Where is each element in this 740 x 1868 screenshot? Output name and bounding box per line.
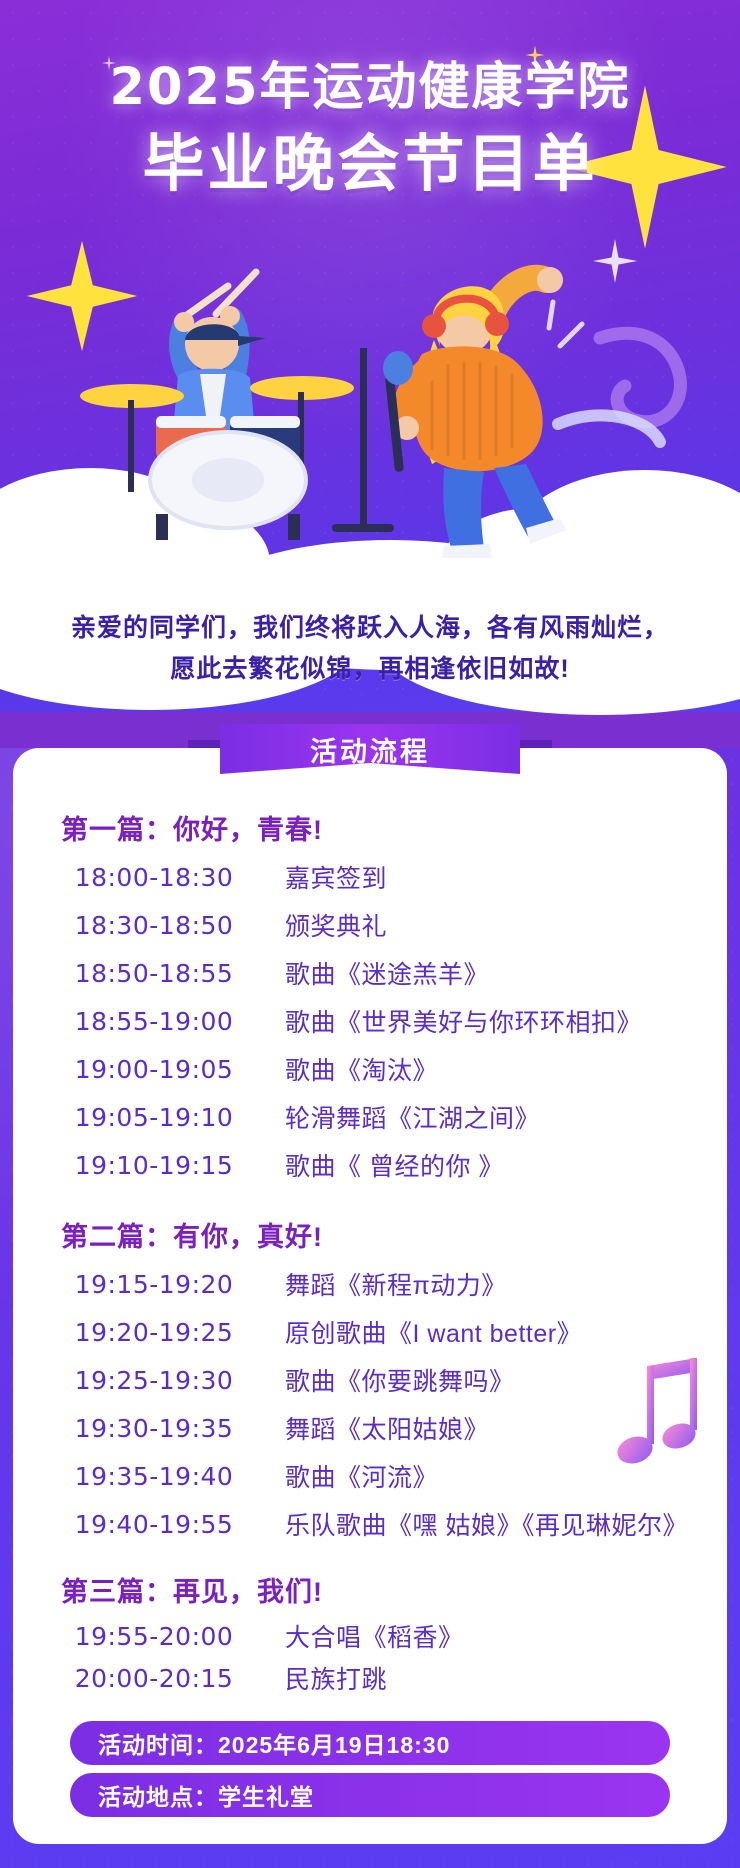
table-row: 19:40-19:55 乐队歌曲《嘿 姑娘》《再见琳妮尔》 bbox=[31, 1500, 709, 1548]
row-time: 18:00-18:30 bbox=[31, 863, 277, 892]
row-time: 19:05-19:10 bbox=[31, 1103, 277, 1132]
table-row: 18:55-19:00 歌曲《世界美好与你环环相扣》 bbox=[31, 997, 709, 1045]
row-time: 19:55-20:00 bbox=[31, 1622, 277, 1651]
row-item: 原创歌曲《I want better》 bbox=[277, 1314, 709, 1350]
event-time-value: 2025年6月19日18:30 bbox=[218, 1726, 450, 1760]
row-item: 嘉宾签到 bbox=[277, 859, 709, 895]
ribbon-tail-right bbox=[518, 740, 552, 774]
sparkle-icon bbox=[586, 232, 644, 290]
section-heading-3: 第三篇：再见，我们! bbox=[61, 1570, 709, 1609]
table-row: 19:55-20:00 大合唱《稻香》 bbox=[31, 1615, 709, 1657]
row-time: 18:55-19:00 bbox=[31, 1007, 277, 1036]
row-item: 颁奖典礼 bbox=[277, 907, 709, 943]
table-row: 18:50-18:55 歌曲《迷途羔羊》 bbox=[31, 949, 709, 997]
row-time: 19:20-19:25 bbox=[31, 1318, 277, 1347]
event-time-pill: 活动时间： 2025年6月19日18:30 bbox=[70, 1721, 670, 1765]
event-place-value: 学生礼堂 bbox=[218, 1778, 314, 1812]
row-time: 18:50-18:55 bbox=[31, 959, 277, 988]
star-burst-icon bbox=[22, 236, 142, 356]
row-item: 歌曲《世界美好与你环环相扣》 bbox=[277, 1003, 709, 1039]
ribbon-tail-left bbox=[188, 740, 222, 774]
poster-title-block: 2025年运动健康学院 毕业晚会节目单 bbox=[0, 58, 740, 199]
section-rows-3: 19:55-20:00 大合唱《稻香》 20:00-20:15 民族打跳 bbox=[31, 1615, 709, 1699]
row-time: 20:00-20:15 bbox=[31, 1664, 277, 1693]
table-row: 20:00-20:15 民族打跳 bbox=[31, 1657, 709, 1699]
hero-subtitle-block: 亲爱的同学们，我们终将跃入人海，各有风雨灿烂， 愿此去繁花似锦，再相逢依旧如故! bbox=[0, 608, 740, 691]
program-section: 活动流程 第一篇：你好，青春! 18:00-18:30 bbox=[0, 748, 740, 1868]
row-item: 舞蹈《太阳姑娘》 bbox=[277, 1410, 709, 1446]
section-rows-1: 18:00-18:30 嘉宾签到 18:30-18:50 颁奖典礼 18:50-… bbox=[31, 853, 709, 1189]
row-item: 乐队歌曲《嘿 姑娘》《再见琳妮尔》 bbox=[277, 1506, 709, 1542]
row-item: 舞蹈《新程π动力》 bbox=[277, 1266, 709, 1302]
row-item: 轮滑舞蹈《江湖之间》 bbox=[277, 1099, 709, 1135]
table-row: 19:30-19:35 舞蹈《太阳姑娘》 bbox=[31, 1404, 709, 1452]
event-time-label: 活动时间： bbox=[98, 1726, 218, 1760]
poster-title-line1: 2025年运动健康学院 bbox=[0, 58, 740, 118]
row-item: 歌曲《淘汰》 bbox=[277, 1051, 709, 1087]
row-time: 18:30-18:50 bbox=[31, 911, 277, 940]
row-item: 歌曲《迷途羔羊》 bbox=[277, 955, 709, 991]
table-row: 19:05-19:10 轮滑舞蹈《江湖之间》 bbox=[31, 1093, 709, 1141]
table-row: 19:15-19:20 舞蹈《新程π动力》 bbox=[31, 1260, 709, 1308]
hero-section: 2025年运动健康学院 毕业晚会节目单 bbox=[0, 0, 740, 712]
event-place-label: 活动地点： bbox=[98, 1778, 218, 1812]
row-time: 19:00-19:05 bbox=[31, 1055, 277, 1084]
row-item: 民族打跳 bbox=[277, 1660, 709, 1696]
table-row: 18:30-18:50 颁奖典礼 bbox=[31, 901, 709, 949]
row-time: 19:15-19:20 bbox=[31, 1270, 277, 1299]
row-item: 大合唱《稻香》 bbox=[277, 1618, 709, 1654]
row-time: 19:40-19:55 bbox=[31, 1510, 277, 1539]
poster-root: 2025年运动健康学院 毕业晚会节目单 bbox=[0, 0, 740, 1868]
table-row: 18:00-18:30 嘉宾签到 bbox=[31, 853, 709, 901]
program-card: 活动流程 第一篇：你好，青春! 18:00-18:30 bbox=[13, 748, 727, 1844]
row-item: 歌曲《 曾经的你 》 bbox=[277, 1147, 709, 1183]
section-heading-1: 第一篇：你好，青春! bbox=[61, 808, 709, 847]
table-row: 19:00-19:05 歌曲《淘汰》 bbox=[31, 1045, 709, 1093]
hero-subtitle-line2: 愿此去繁花似锦，再相逢依旧如故! bbox=[0, 649, 740, 690]
ribbon-banner: 活动流程 bbox=[220, 724, 520, 774]
table-row: 19:25-19:30 歌曲《你要跳舞吗》 bbox=[31, 1356, 709, 1404]
row-time: 19:30-19:35 bbox=[31, 1414, 277, 1443]
poster-title-line2: 毕业晚会节目单 bbox=[0, 128, 740, 199]
row-item: 歌曲《河流》 bbox=[277, 1458, 709, 1494]
event-place-pill: 活动地点： 学生礼堂 bbox=[70, 1773, 670, 1817]
section-heading-2: 第二篇：有你，真好! bbox=[61, 1215, 709, 1254]
row-time: 19:10-19:15 bbox=[31, 1151, 277, 1180]
hero-subtitle-line1: 亲爱的同学们，我们终将跃入人海，各有风雨灿烂， bbox=[0, 608, 740, 649]
table-row: 19:20-19:25 原创歌曲《I want better》 bbox=[31, 1308, 709, 1356]
section-rows-2: 19:15-19:20 舞蹈《新程π动力》 19:20-19:25 原创歌曲《I… bbox=[31, 1260, 709, 1548]
row-time: 19:25-19:30 bbox=[31, 1366, 277, 1395]
row-time: 19:35-19:40 bbox=[31, 1462, 277, 1491]
table-row: 19:10-19:15 歌曲《 曾经的你 》 bbox=[31, 1141, 709, 1189]
row-item: 歌曲《你要跳舞吗》 bbox=[277, 1362, 709, 1398]
table-row: 19:35-19:40 歌曲《河流》 bbox=[31, 1452, 709, 1500]
